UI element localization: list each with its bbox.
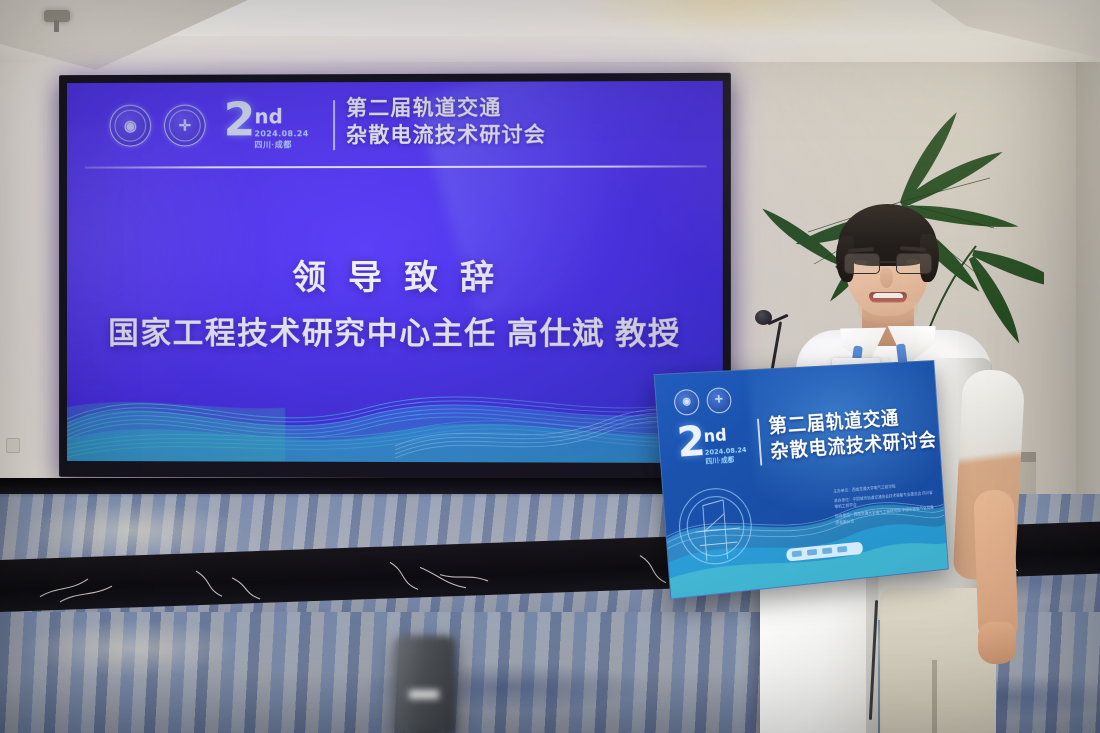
podium-emblem-1-glyph: ◉ <box>674 390 699 415</box>
speaker-right-hand <box>978 622 1016 664</box>
speaker-nose <box>880 268 893 288</box>
slide-header: ◉ ✛ 2 nd 2024.08.24 四川·成都 第二届轨道交通 杂散电流技术… <box>67 89 723 163</box>
edition-number: 2 <box>224 96 256 142</box>
conference-photo-scene: ◉ ✛ 2 nd 2024.08.24 四川·成都 第二届轨道交通 杂散电流技术… <box>0 0 1100 733</box>
glasses-lens-right <box>896 253 932 274</box>
header-divider <box>333 100 335 150</box>
conference-title-line2: 杂散电流技术研讨会 <box>346 122 546 150</box>
conference-title-line1: 第二届轨道交通 <box>346 95 546 123</box>
ceiling-light-glow <box>560 0 890 40</box>
glasses-bridge <box>880 261 896 263</box>
speaker-teeth <box>873 293 903 298</box>
emblem-1-glyph: ◉ <box>111 106 151 146</box>
wall-outlet <box>6 438 20 453</box>
microphone-icon <box>755 310 772 325</box>
conference-title: 第二届轨道交通 杂散电流技术研讨会 <box>346 95 546 150</box>
edition-suffix: nd <box>254 106 282 126</box>
speaker-trouser-seam <box>932 660 937 733</box>
foreground-camera-device <box>395 636 455 733</box>
ceiling-light-fixture-icon <box>44 10 70 22</box>
podium-signage-board: ◉ ✛ 2 nd 2024.08.24 四川·成都 第二届轨道交通 杂散电流技术… <box>654 360 949 599</box>
podium-conference-place: 四川·成都 <box>705 456 734 467</box>
conference-place: 四川·成都 <box>254 140 291 150</box>
slide-heading: 领导致辞 <box>67 250 723 299</box>
emblem-2-glyph: ✛ <box>165 106 205 146</box>
edition-logo: 2 nd 2024.08.24 四川·成都 <box>224 100 334 156</box>
university-emblem-1-icon: ◉ <box>110 105 152 147</box>
conference-date: 2024.08.24 <box>254 129 308 139</box>
podium-edition-logo: 2 nd 2024.08.24 四川·成都 <box>676 421 757 476</box>
speaker-right-forearm <box>973 489 1018 640</box>
led-screen-frame: ◉ ✛ 2 nd 2024.08.24 四川·成都 第二届轨道交通 杂散电流技术… <box>59 73 731 479</box>
podium-university-emblem-2-icon: ✛ <box>706 387 732 414</box>
right-wall-edge <box>1076 0 1100 560</box>
podium-university-emblem-1-icon: ◉ <box>673 389 700 416</box>
podium-emblem-2-glyph: ✛ <box>707 388 731 413</box>
glasses-lens-left <box>844 253 880 274</box>
university-emblem-2-icon: ✛ <box>164 105 206 147</box>
speaker-chin <box>858 302 918 324</box>
main-led-screen: ◉ ✛ 2 nd 2024.08.24 四川·成都 第二届轨道交通 杂散电流技术… <box>67 81 723 463</box>
podium-edition-suffix: nd <box>703 428 727 446</box>
decorative-wave-graphic-icon <box>67 332 723 463</box>
